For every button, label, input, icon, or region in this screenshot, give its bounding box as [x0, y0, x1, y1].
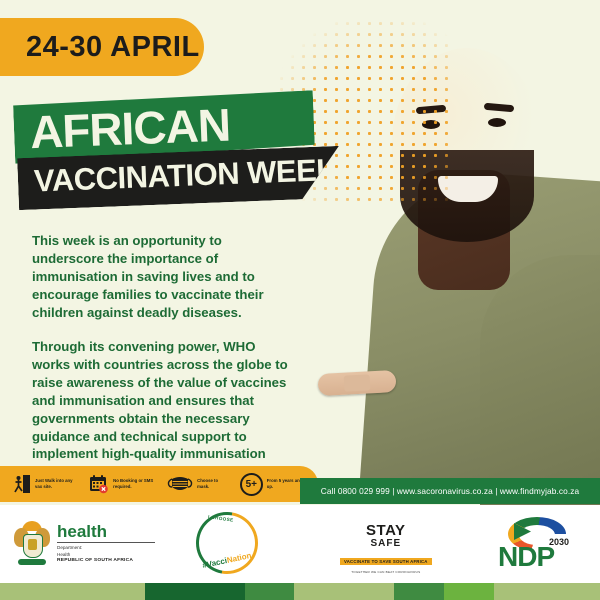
info-strip: Just Walk into any vax site. No Booking … [0, 466, 318, 502]
footer-block-1 [145, 583, 245, 600]
info-caption-no-booking: No Booking or SMS required. [113, 478, 155, 490]
poster-canvas: 24-30 APRIL AFRICAN VACCINATION WEEK Thi… [0, 0, 600, 600]
health-department-logo: health Department: Health REPUBLIC OF SO… [14, 521, 155, 565]
info-item-no-booking: No Booking or SMS required. [89, 474, 155, 494]
date-range-badge: 24-30 APRIL [0, 18, 204, 76]
calendar-no-booking-icon [89, 474, 109, 494]
footer-block-4 [394, 583, 444, 600]
footer-block-2 [245, 583, 295, 600]
date-range-label: 24-30 APRIL [26, 31, 200, 64]
eye-right [488, 118, 506, 127]
footer-color-blocks [0, 583, 600, 600]
info-caption-walk-in: Just Walk into any vax site. [35, 478, 77, 490]
title-line-1: AFRICAN [29, 97, 231, 159]
south-africa-coat-of-arms-icon [14, 521, 50, 565]
health-rule [57, 542, 155, 543]
age-badge-label: 5+ [240, 473, 263, 496]
title-line-2: VACCINATION WEEK [33, 152, 338, 200]
logo-row: health Department: Health REPUBLIC OF SO… [0, 505, 600, 583]
stay-safe-banner: VACCINATE TO SAVE SOUTH AFRICA [340, 558, 432, 566]
face-mask-icon [167, 475, 193, 493]
health-wordmark: health [57, 523, 155, 540]
adhesive-bandage-icon [317, 370, 396, 396]
age-five-plus-icon: 5+ [240, 473, 263, 496]
shirt-sleeve [480, 255, 600, 505]
info-item-age: 5+ From 5 years and up. [240, 473, 306, 496]
ndp-logo: 2030 NDP [494, 515, 580, 573]
info-item-walk-in: Just Walk into any vax site. [14, 474, 77, 494]
stay-safe-tagline: TOGETHER WE CAN BEAT CORONAVIRUS [340, 570, 432, 574]
walk-in-door-icon [14, 474, 31, 494]
body-copy: This week is an opportunity to underscor… [32, 232, 292, 497]
vaccination-circle-logo: I CHOOSE #VacciNation [196, 512, 258, 574]
stay-safe-line-2: SAFE [340, 538, 432, 550]
ndp-letters: NDP [498, 541, 554, 573]
info-item-mask: Choose to mask. [167, 475, 228, 493]
health-line-1: Department: [57, 545, 155, 552]
contact-bar: Call 0800 029 999 | www.sacoronavirus.co… [300, 478, 600, 504]
health-line-3: REPUBLIC OF SOUTH AFRICA [57, 558, 155, 563]
stay-safe-logo: STAY SAFE VACCINATE TO SAVE SOUTH AFRICA… [340, 523, 432, 574]
contact-text[interactable]: Call 0800 029 999 | www.sacoronavirus.co… [321, 486, 579, 496]
paragraph-1: This week is an opportunity to underscor… [32, 232, 292, 322]
paragraph-2: Through its convening power, WHO works w… [32, 338, 292, 482]
ndp-2030-logo: 2030 NDP [494, 515, 580, 573]
footer-block-0 [0, 583, 145, 600]
vaccination-logo: I CHOOSE #VacciNation [196, 512, 258, 574]
stay-safe-line-1: STAY [340, 523, 432, 538]
footer-block-5 [444, 583, 494, 600]
footer-block-3 [294, 583, 394, 600]
info-caption-mask: Choose to mask. [197, 478, 228, 490]
footer-block-6 [494, 583, 600, 600]
